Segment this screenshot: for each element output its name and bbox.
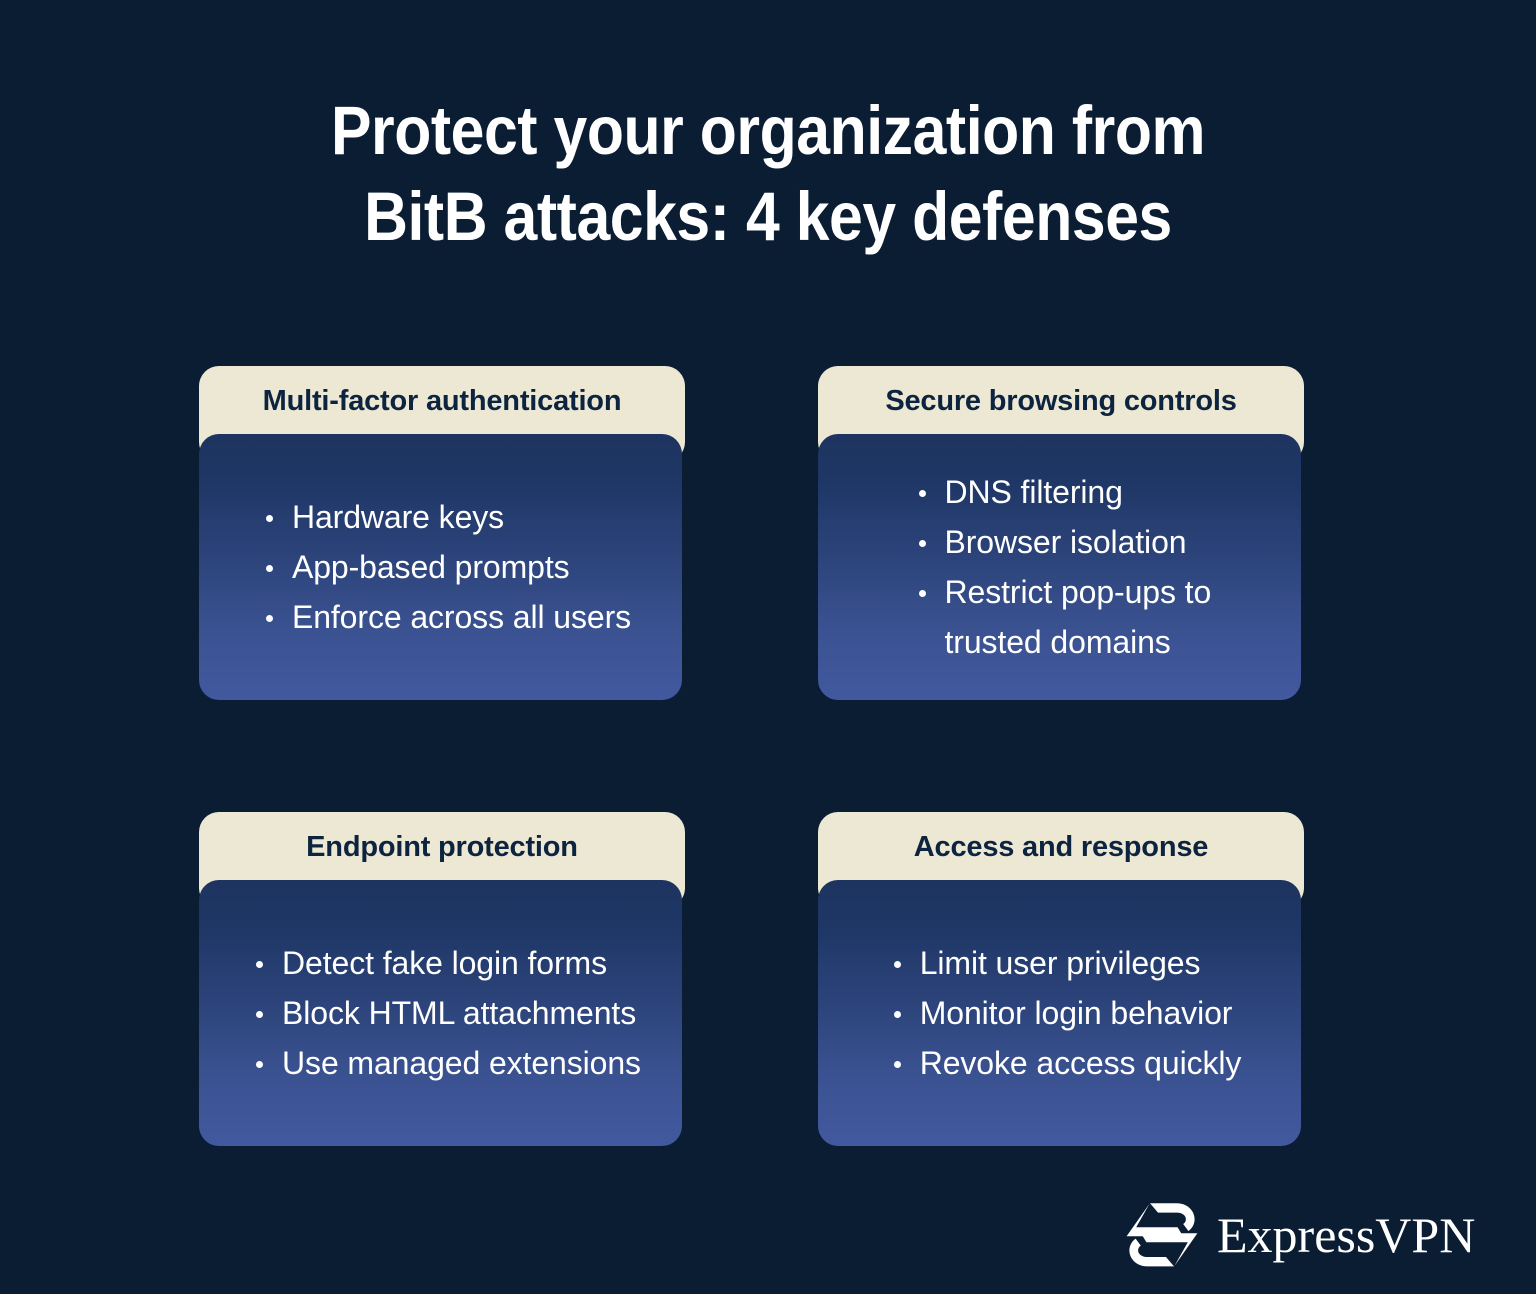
card-title: Multi-factor authentication [199,385,685,418]
defense-card-secure-browsing-controls: Secure browsing controls DNS filtering B… [818,366,1304,700]
list-item: Restrict pop-ups to trusted domains [917,567,1217,667]
list-item: Revoke access quickly [892,1038,1242,1088]
bullet-block: Hardware keys App-based prompts Enforce … [199,492,682,642]
bullet-list: Hardware keys App-based prompts Enforce … [264,492,631,642]
expressvpn-logo: ExpressVPN [1125,1202,1475,1268]
bullet-list: Detect fake login forms Block HTML attac… [254,938,641,1088]
expressvpn-e-mark [1125,1202,1199,1268]
card-title: Access and response [818,831,1304,864]
page-title: Protect your organization from BitB atta… [92,88,1444,260]
bullet-block: Detect fake login forms Block HTML attac… [199,938,682,1088]
bullet-block: DNS filtering Browser isolation Restrict… [818,467,1301,667]
list-item: DNS filtering [917,467,1217,517]
card-body: Hardware keys App-based prompts Enforce … [199,434,682,700]
list-item: App-based prompts [264,542,631,592]
defense-card-endpoint-protection: Endpoint protection Detect fake login fo… [199,812,685,1146]
bullet-block: Limit user privileges Monitor login beha… [818,938,1301,1088]
bullet-list: DNS filtering Browser isolation Restrict… [917,467,1217,667]
list-item: Limit user privileges [892,938,1242,988]
list-item: Enforce across all users [264,592,631,642]
card-body: Detect fake login forms Block HTML attac… [199,880,682,1146]
list-item: Monitor login behavior [892,988,1242,1038]
list-item: Use managed extensions [254,1038,641,1088]
infographic-canvas: Protect your organization from BitB atta… [0,0,1536,1294]
defense-card-access-and-response: Access and response Limit user privilege… [818,812,1304,1146]
expressvpn-wordmark: ExpressVPN [1217,1210,1475,1260]
card-title: Endpoint protection [199,831,685,864]
bullet-list: Limit user privileges Monitor login beha… [892,938,1242,1088]
list-item: Browser isolation [917,517,1217,567]
list-item: Hardware keys [264,492,631,542]
list-item: Block HTML attachments [254,988,641,1038]
card-body: Limit user privileges Monitor login beha… [818,880,1301,1146]
list-item: Detect fake login forms [254,938,641,988]
defense-card-multi-factor-authentication: Multi-factor authentication Hardware key… [199,366,685,700]
card-title: Secure browsing controls [818,385,1304,418]
card-body: DNS filtering Browser isolation Restrict… [818,434,1301,700]
